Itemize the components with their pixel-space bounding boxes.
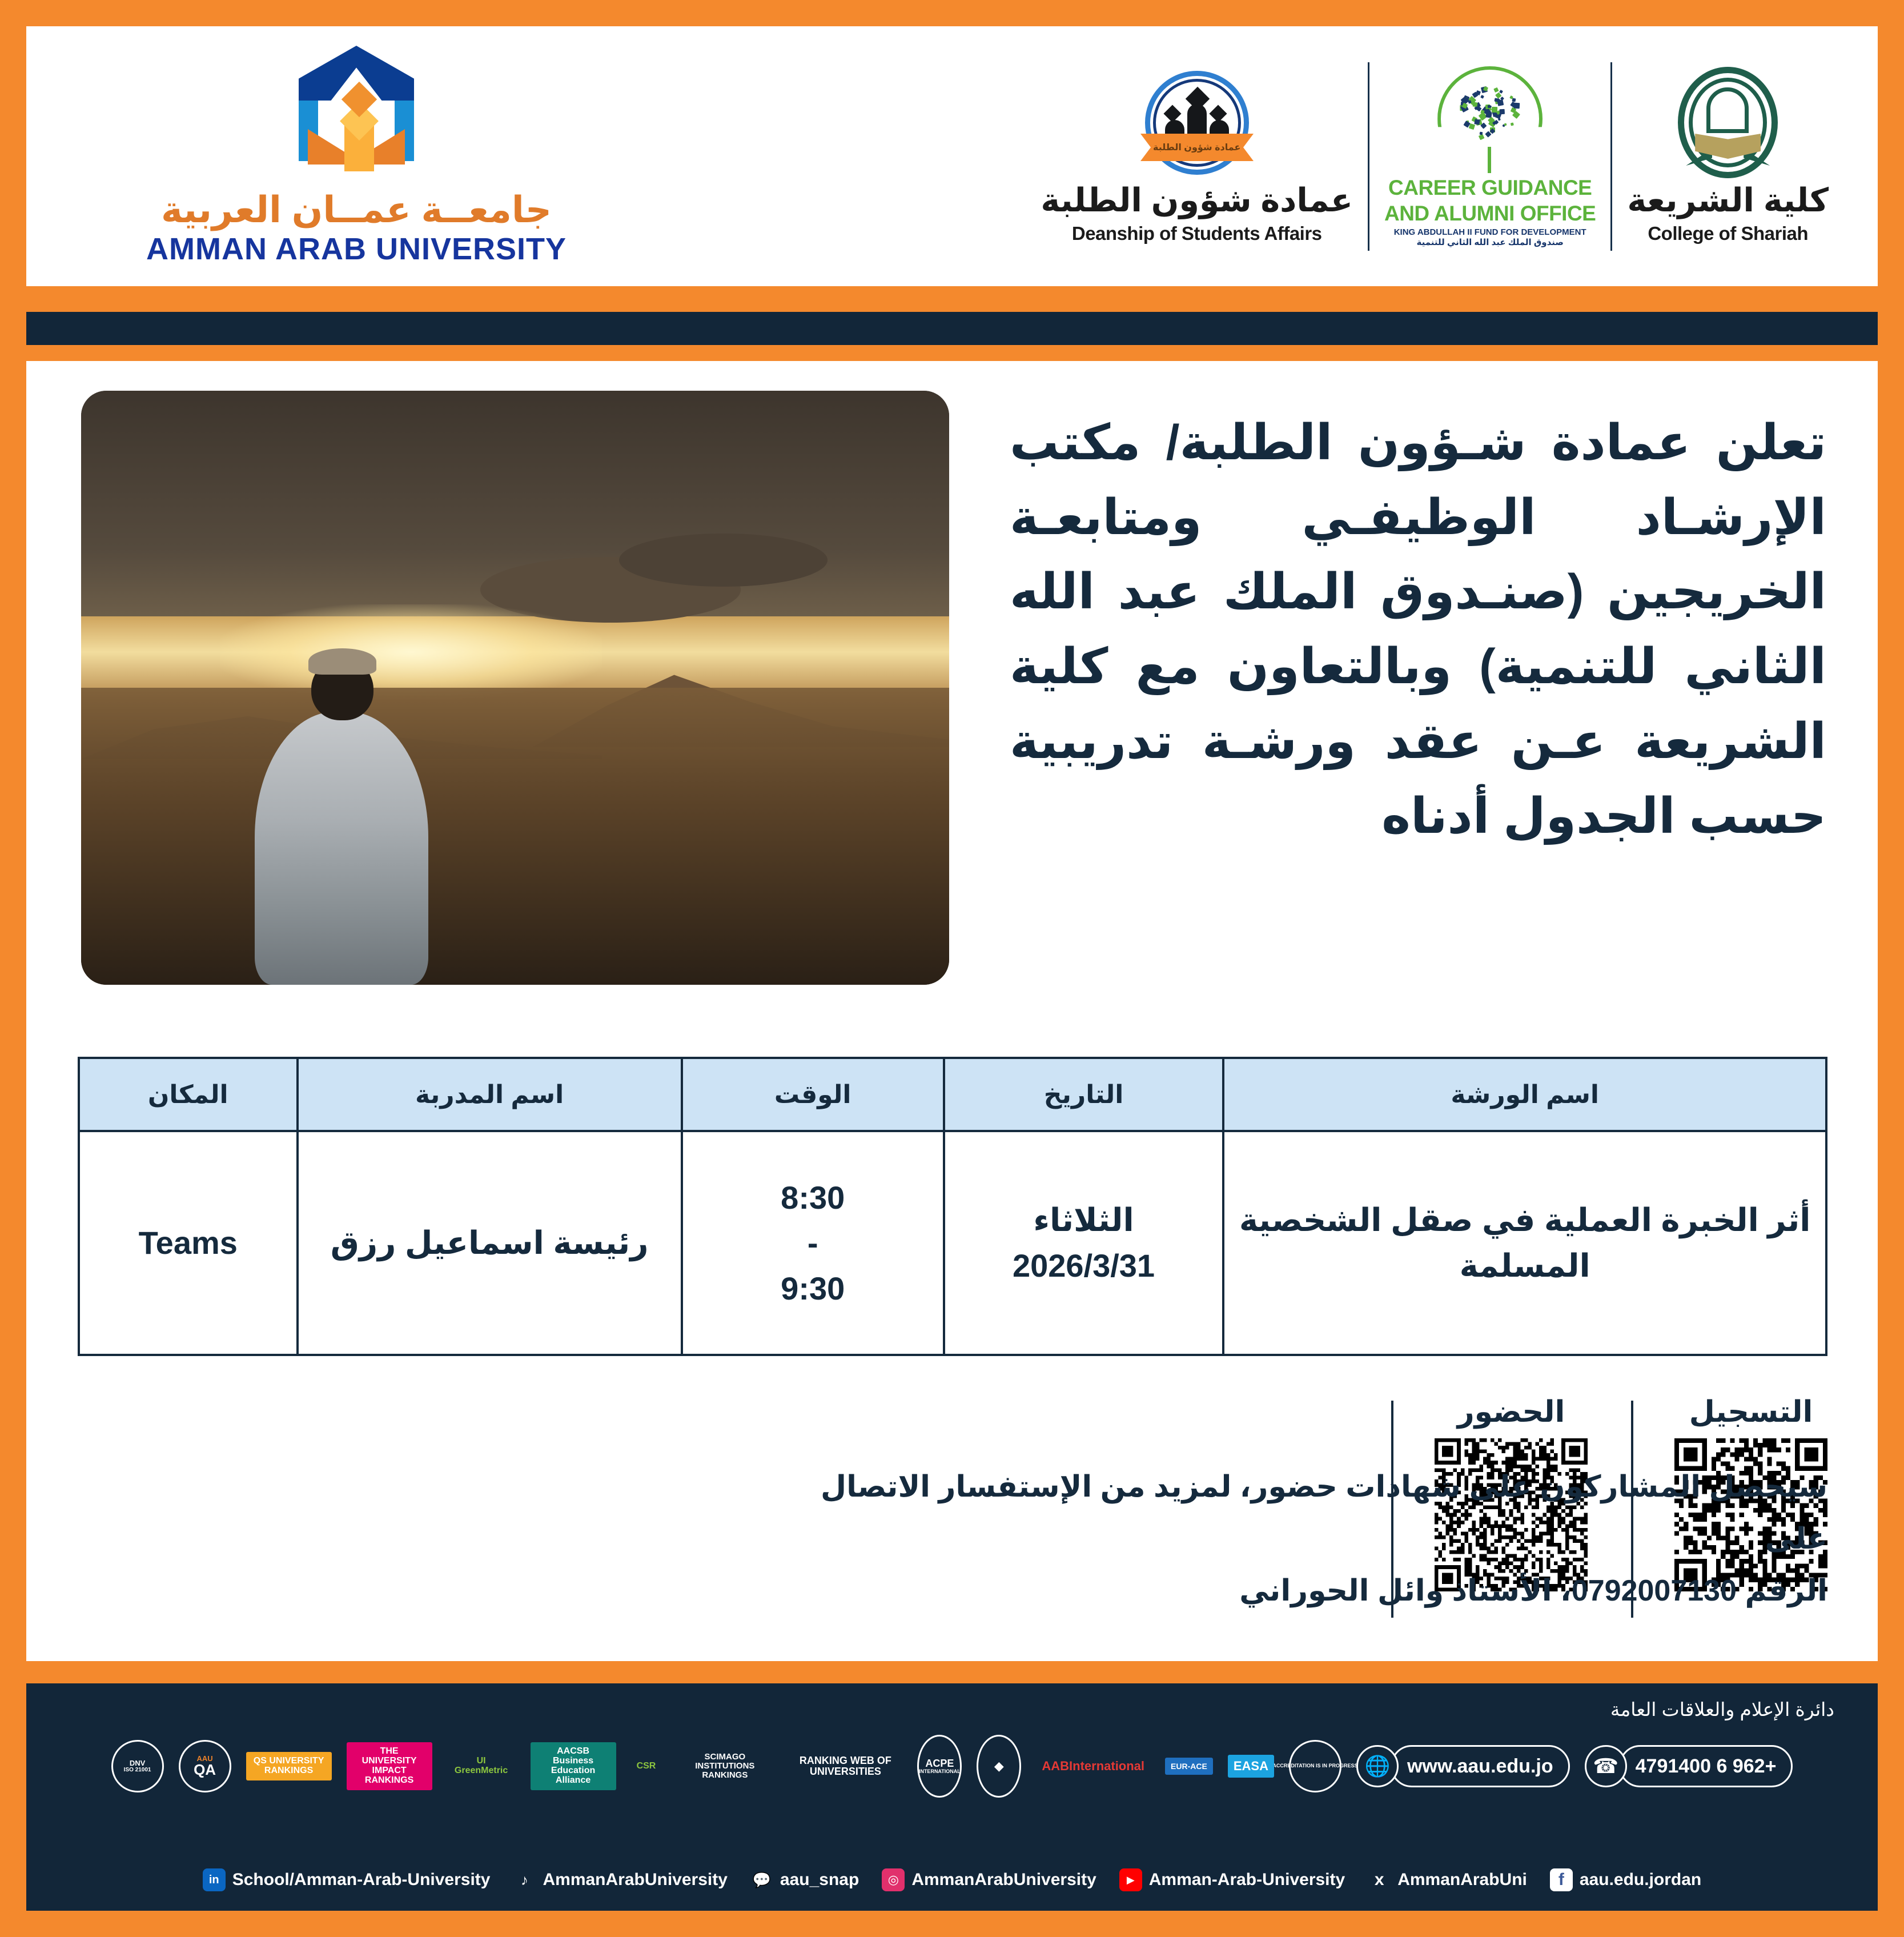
logo-career-guidance-and-alumni-office: CAREER GUIDANCE AND ALUMNI OFFICE KING A… xyxy=(1369,54,1610,259)
ui-greenmetric-badge-icon: UI GreenMetric xyxy=(447,1752,516,1780)
td-time: 8:30 - 9:30 xyxy=(682,1131,944,1355)
footer-department-label: دائرة الإعلام والعلاقات العامة xyxy=(1610,1698,1834,1721)
social-links: f aau.edu.jordan x AmmanArabUni ▶ Amman-… xyxy=(26,1868,1878,1891)
instagram-icon: ◎ xyxy=(882,1868,905,1891)
easa-badge-icon: EASA xyxy=(1228,1755,1274,1777)
aab-international-badge-icon: AABInternational xyxy=(1036,1755,1150,1777)
footer-bar: دائرة الإعلام والعلاقات العامة DNV ISO 2… xyxy=(26,1683,1878,1911)
snapchat-icon: 💬 xyxy=(750,1868,773,1891)
aau-arabic-name: جامعــة عمــان العربية xyxy=(161,189,552,231)
aau-emblem-icon xyxy=(291,46,422,183)
facebook-handle: aau.edu.jordan xyxy=(1580,1870,1701,1890)
th-place: المكان xyxy=(79,1058,298,1131)
social-tiktok[interactable]: ♪ AmmanArabUniversity xyxy=(513,1868,727,1891)
shariah-arabic-label: كلية الشريعة xyxy=(1627,182,1829,219)
contact-person: ، الأستاذ وائل الحوراني xyxy=(1239,1574,1572,1607)
qr-registration-label: التسجيل xyxy=(1689,1395,1813,1429)
social-facebook[interactable]: f aau.edu.jordan xyxy=(1550,1868,1701,1891)
contact-phone-number: 0792007130 xyxy=(1572,1574,1737,1607)
contact-number-prefix: الرقم xyxy=(1737,1574,1827,1607)
th-time: الوقت xyxy=(682,1058,944,1131)
globe-icon: 🌐 xyxy=(1356,1745,1399,1787)
acpe-badge-icon: ACPE INTERNATIONAL xyxy=(917,1735,962,1798)
workshop-schedule-table: اسم الورشة التاريخ الوقت اسم المدربة الم… xyxy=(78,1057,1827,1356)
td-date: الثلاثاء 2026/3/31 xyxy=(944,1131,1224,1355)
islamic-accreditation-badge-icon: ◆ xyxy=(977,1735,1021,1798)
career-guidance-english-line2: AND ALUMNI OFFICE xyxy=(1384,203,1596,225)
td-time-dash: - xyxy=(689,1220,937,1266)
qr-and-contact-row: التسجيل الحضور سيحصل المشاركون على شهادا… xyxy=(78,1395,1827,1635)
th-date: التاريخ xyxy=(944,1058,1224,1131)
phone-icon: ☎ xyxy=(1585,1745,1627,1787)
contact-line-1: سيحصل المشاركون على شهادات حضور، لمزيد م… xyxy=(754,1461,1827,1565)
accreditation-badges: DNV ISO 21001 AAU QA QS UNIVERSITY RANKI… xyxy=(26,1733,1878,1800)
x-twitter-handle: AmmanArabUni xyxy=(1397,1870,1527,1890)
partner-logo-group: عمادة شؤون الطلبة عمادة شؤون الطلبة Dean… xyxy=(1026,26,1843,286)
table-header-row: اسم الورشة التاريخ الوقت اسم المدربة الم… xyxy=(79,1058,1826,1131)
csr-badge-icon: CSR xyxy=(631,1757,662,1776)
ranking-web-badge-icon: RANKING WEB OF UNIVERSITIES xyxy=(788,1751,902,1782)
linkedin-icon: in xyxy=(203,1868,226,1891)
social-snapchat[interactable]: 💬 aau_snap xyxy=(750,1868,859,1891)
the-impact-rankings-badge-icon: THE UNIVERSITY IMPACT RANKINGS xyxy=(347,1742,432,1790)
phone-number: +962 6 4791400 xyxy=(1636,1755,1777,1778)
x-twitter-icon: x xyxy=(1368,1868,1391,1891)
qs-rankings-badge-icon: QS UNIVERSITY RANKINGS xyxy=(246,1752,332,1780)
td-time-end: 9:30 xyxy=(689,1266,937,1312)
td-place: Teams xyxy=(79,1131,298,1355)
td-time-start: 8:30 xyxy=(689,1175,937,1221)
social-linkedin[interactable]: in School/Amman-Arab-University xyxy=(203,1868,491,1891)
deanship-arabic-label: عمادة شؤون الطلبة xyxy=(1041,182,1353,219)
instagram-handle: AmmanArabUniversity xyxy=(911,1870,1096,1890)
shariah-english-label: College of Shariah xyxy=(1648,223,1808,244)
amman-arab-university-logo: جامعــة عمــان العربية AMMAN ARAB UNIVER… xyxy=(146,46,567,267)
career-guidance-fund-arabic: صندوق الملك عبد الله الثاني للتنمية xyxy=(1416,237,1563,247)
social-youtube[interactable]: ▶ Amman-Arab-University xyxy=(1119,1868,1345,1891)
aau-english-name: AMMAN ARAB UNIVERSITY xyxy=(146,231,567,267)
snapchat-handle: aau_snap xyxy=(780,1870,859,1890)
tiktok-handle: AmmanArabUniversity xyxy=(543,1870,727,1890)
website-pill[interactable]: www.aau.edu.jo 🌐 xyxy=(1356,1745,1570,1787)
eur-ace-badge-icon: EUR-ACE xyxy=(1165,1758,1213,1775)
deanship-crest-banner-text: عمادة شؤون الطلبة xyxy=(1151,134,1243,161)
announcement-headline: تعلن عمادة شـؤون الطلبة/ مكتب الإرشـاد ا… xyxy=(1010,406,1826,853)
body-panel: تعلن عمادة شـؤون الطلبة/ مكتب الإرشـاد ا… xyxy=(26,361,1878,1661)
linkedin-handle: School/Amman-Arab-University xyxy=(232,1870,491,1890)
social-instagram[interactable]: ◎ AmmanArabUniversity xyxy=(882,1868,1096,1891)
deanship-crest-icon: عمادة شؤون الطلبة xyxy=(1143,69,1251,177)
scimago-badge-icon: SCIMAGO INSTITUTIONS RANKINGS xyxy=(676,1748,773,1784)
aau-qa-badge-icon: AAU QA xyxy=(179,1740,231,1792)
facebook-icon: f xyxy=(1550,1868,1573,1891)
career-guidance-fund-english: KING ABDULLAH II FUND FOR DEVELOPMENT xyxy=(1394,227,1586,237)
shariah-crest-icon xyxy=(1678,69,1778,177)
qr-attendance-label: الحضور xyxy=(1457,1395,1565,1429)
logo-deanship-of-students-affairs: عمادة شؤون الطلبة عمادة شؤون الطلبة Dean… xyxy=(1026,54,1368,259)
th-trainer-name: اسم المدربة xyxy=(298,1058,682,1131)
career-guidance-tree-icon xyxy=(1433,65,1547,174)
td-trainer-name: رئيسة اسماعيل رزق xyxy=(298,1131,682,1355)
logo-college-of-shariah: كلية الشريعة College of Shariah xyxy=(1612,54,1843,259)
td-workshop-name: أثر الخبرة العملية في صقل الشخصية المسلم… xyxy=(1223,1131,1826,1355)
table-row: أثر الخبرة العملية في صقل الشخصية المسلم… xyxy=(79,1131,1826,1355)
contact-info: سيحصل المشاركون على شهادات حضور، لمزيد م… xyxy=(754,1461,1827,1617)
td-date-day: الثلاثاء xyxy=(951,1197,1217,1243)
website-url: www.aau.edu.jo xyxy=(1407,1755,1553,1778)
navy-divider-bar xyxy=(26,312,1878,345)
accreditation-in-progress-badge-icon: ACCREDITATION IS IN PROGRESS xyxy=(1289,1740,1341,1792)
header-logo-band: عمادة شؤون الطلبة عمادة شؤون الطلبة Dean… xyxy=(26,26,1878,286)
aacsb-badge-icon: AACSB Business Education Alliance xyxy=(531,1742,616,1790)
social-x-twitter[interactable]: x AmmanArabUni xyxy=(1368,1868,1527,1891)
td-date-value: 2026/3/31 xyxy=(951,1243,1217,1289)
tiktok-icon: ♪ xyxy=(513,1868,536,1891)
phone-pill[interactable]: +962 6 4791400 ☎ xyxy=(1585,1745,1793,1787)
youtube-icon: ▶ xyxy=(1119,1868,1142,1891)
hero-photo xyxy=(81,391,949,985)
career-guidance-english-line1: CAREER GUIDANCE xyxy=(1388,177,1592,199)
th-workshop-name: اسم الورشة xyxy=(1223,1058,1826,1131)
contact-line-2: الرقم 0792007130، الأستاذ وائل الحوراني xyxy=(754,1565,1827,1617)
logo-divider xyxy=(1610,62,1612,251)
poster-root: عمادة شؤون الطلبة عمادة شؤون الطلبة Dean… xyxy=(0,0,1904,1937)
logo-divider xyxy=(1368,62,1369,251)
deanship-english-label: Deanship of Students Affairs xyxy=(1072,223,1322,244)
dnv-iso-badge-icon: DNV ISO 21001 xyxy=(111,1740,164,1792)
youtube-handle: Amman-Arab-University xyxy=(1149,1870,1345,1890)
